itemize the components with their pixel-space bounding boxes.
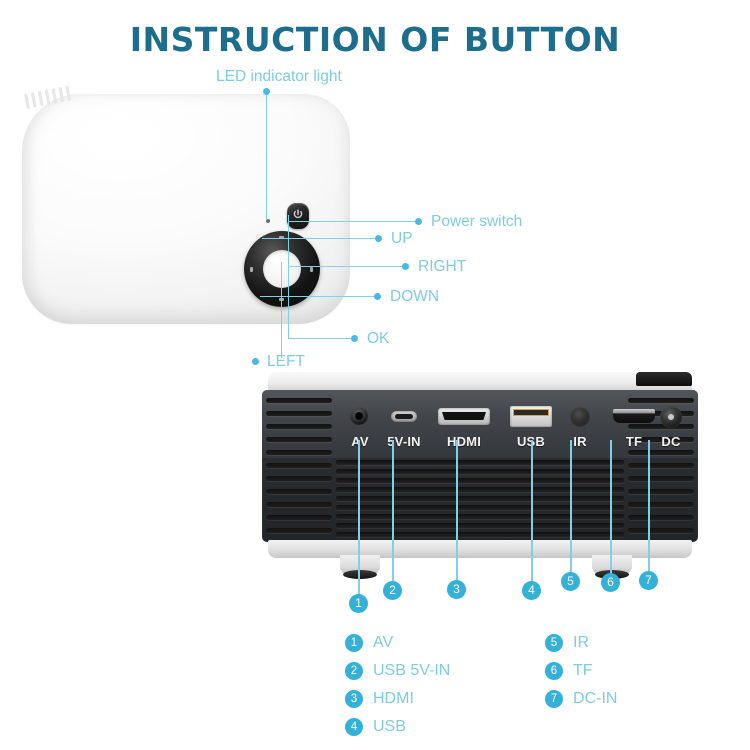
leader-line-down bbox=[260, 296, 377, 297]
av-port-label: AV bbox=[340, 434, 380, 449]
legend-item-usb: 4 USB bbox=[345, 718, 406, 736]
projector-foot-right bbox=[592, 555, 632, 575]
marker-1: 1 bbox=[349, 594, 368, 613]
legend-label-6: TF bbox=[573, 662, 593, 680]
callout-dot-ok bbox=[351, 335, 358, 342]
legend-item-hdmi: 3 HDMI bbox=[345, 690, 414, 708]
marker-line-2 bbox=[392, 440, 394, 581]
callout-label-power: Power switch bbox=[431, 213, 522, 231]
usb-5v-in-port[interactable] bbox=[391, 411, 417, 422]
legend-item-ir: 5 IR bbox=[545, 634, 589, 652]
marker-6: 6 bbox=[601, 573, 620, 592]
callout-dot-left bbox=[252, 358, 259, 365]
callout-dot-led bbox=[263, 88, 270, 95]
legend-label-1: AV bbox=[373, 634, 393, 652]
marker-line-4 bbox=[531, 440, 533, 581]
dc-in-port[interactable] bbox=[660, 406, 682, 428]
leader-line-power bbox=[288, 221, 418, 222]
av-port[interactable] bbox=[350, 407, 368, 425]
callout-dot-power bbox=[415, 218, 422, 225]
legend-label-2: USB 5V-IN bbox=[373, 662, 450, 680]
projector-rear-view: AV 5V-IN HDMI USB IR TF DC bbox=[262, 372, 698, 577]
callout-label-up: UP bbox=[391, 230, 413, 248]
ir-sensor-label: IR bbox=[560, 434, 600, 449]
callout-label-left: LEFT bbox=[267, 353, 305, 371]
marker-line-7 bbox=[648, 440, 650, 571]
led-indicator-light bbox=[266, 219, 270, 223]
marker-line-5 bbox=[570, 440, 572, 572]
legend-num-6: 6 bbox=[545, 662, 563, 680]
focus-knob[interactable] bbox=[636, 372, 692, 386]
legend-num-5: 5 bbox=[545, 634, 563, 652]
leader-line-ok-v bbox=[288, 215, 289, 338]
marker-3: 3 bbox=[447, 580, 466, 599]
hdmi-port-label: HDMI bbox=[434, 434, 494, 449]
marker-line-1 bbox=[358, 440, 360, 594]
vent-left bbox=[262, 390, 336, 542]
power-icon bbox=[293, 209, 303, 221]
legend-item-tf: 6 TF bbox=[545, 662, 593, 680]
ir-sensor[interactable] bbox=[570, 407, 590, 427]
power-switch-button[interactable] bbox=[287, 203, 309, 229]
marker-5: 5 bbox=[561, 572, 580, 591]
marker-line-3 bbox=[456, 440, 458, 580]
marker-line-6 bbox=[610, 440, 612, 573]
tf-card-slot[interactable] bbox=[613, 409, 655, 423]
leader-line-up bbox=[262, 238, 378, 239]
callout-dot-up bbox=[375, 235, 382, 242]
dc-in-port-label: DC bbox=[651, 434, 691, 449]
legend-item-usb-5v-in: 2 USB 5V-IN bbox=[345, 662, 450, 680]
marker-2: 2 bbox=[383, 581, 402, 600]
legend-label-4: USB bbox=[373, 718, 406, 736]
callout-label-led: LED indicator light bbox=[216, 68, 342, 86]
instruction-diagram: INSTRUCTION OF BUTTON LED indicator li bbox=[0, 0, 750, 750]
legend-num-4: 4 bbox=[345, 718, 363, 736]
legend-num-2: 2 bbox=[345, 662, 363, 680]
callout-label-down: DOWN bbox=[390, 288, 439, 306]
hdmi-port[interactable] bbox=[438, 408, 490, 425]
leader-line-left bbox=[281, 262, 282, 358]
callout-dot-right bbox=[402, 263, 409, 270]
legend-label-7: DC-IN bbox=[573, 690, 617, 708]
legend-num-3: 3 bbox=[345, 690, 363, 708]
leader-line-led bbox=[266, 92, 267, 219]
rear-top-rail bbox=[268, 372, 692, 392]
projector-top-view bbox=[22, 88, 350, 326]
legend-label-5: IR bbox=[573, 634, 589, 652]
callout-dot-down bbox=[374, 293, 381, 300]
legend-num-7: 7 bbox=[545, 690, 563, 708]
legend-item-dc-in: 7 DC-IN bbox=[545, 690, 617, 708]
callout-label-ok: OK bbox=[367, 330, 389, 348]
center-vent-slats bbox=[336, 460, 624, 542]
marker-7: 7 bbox=[639, 571, 658, 590]
leader-line-right bbox=[290, 266, 405, 267]
leader-line-ok-h bbox=[288, 338, 354, 339]
dpad-left-mark[interactable] bbox=[250, 267, 253, 272]
usb-port[interactable] bbox=[510, 406, 552, 427]
projector-foot-left bbox=[340, 555, 380, 575]
dpad-right-mark[interactable] bbox=[310, 267, 313, 272]
page-title: INSTRUCTION OF BUTTON bbox=[0, 20, 750, 59]
marker-4: 4 bbox=[522, 581, 541, 600]
usb-5v-in-port-label: 5V-IN bbox=[379, 434, 429, 449]
rear-body: AV 5V-IN HDMI USB IR TF DC bbox=[262, 390, 698, 542]
legend-num-1: 1 bbox=[345, 634, 363, 652]
legend-label-3: HDMI bbox=[373, 690, 414, 708]
legend-item-av: 1 AV bbox=[345, 634, 393, 652]
callout-label-right: RIGHT bbox=[418, 258, 466, 276]
